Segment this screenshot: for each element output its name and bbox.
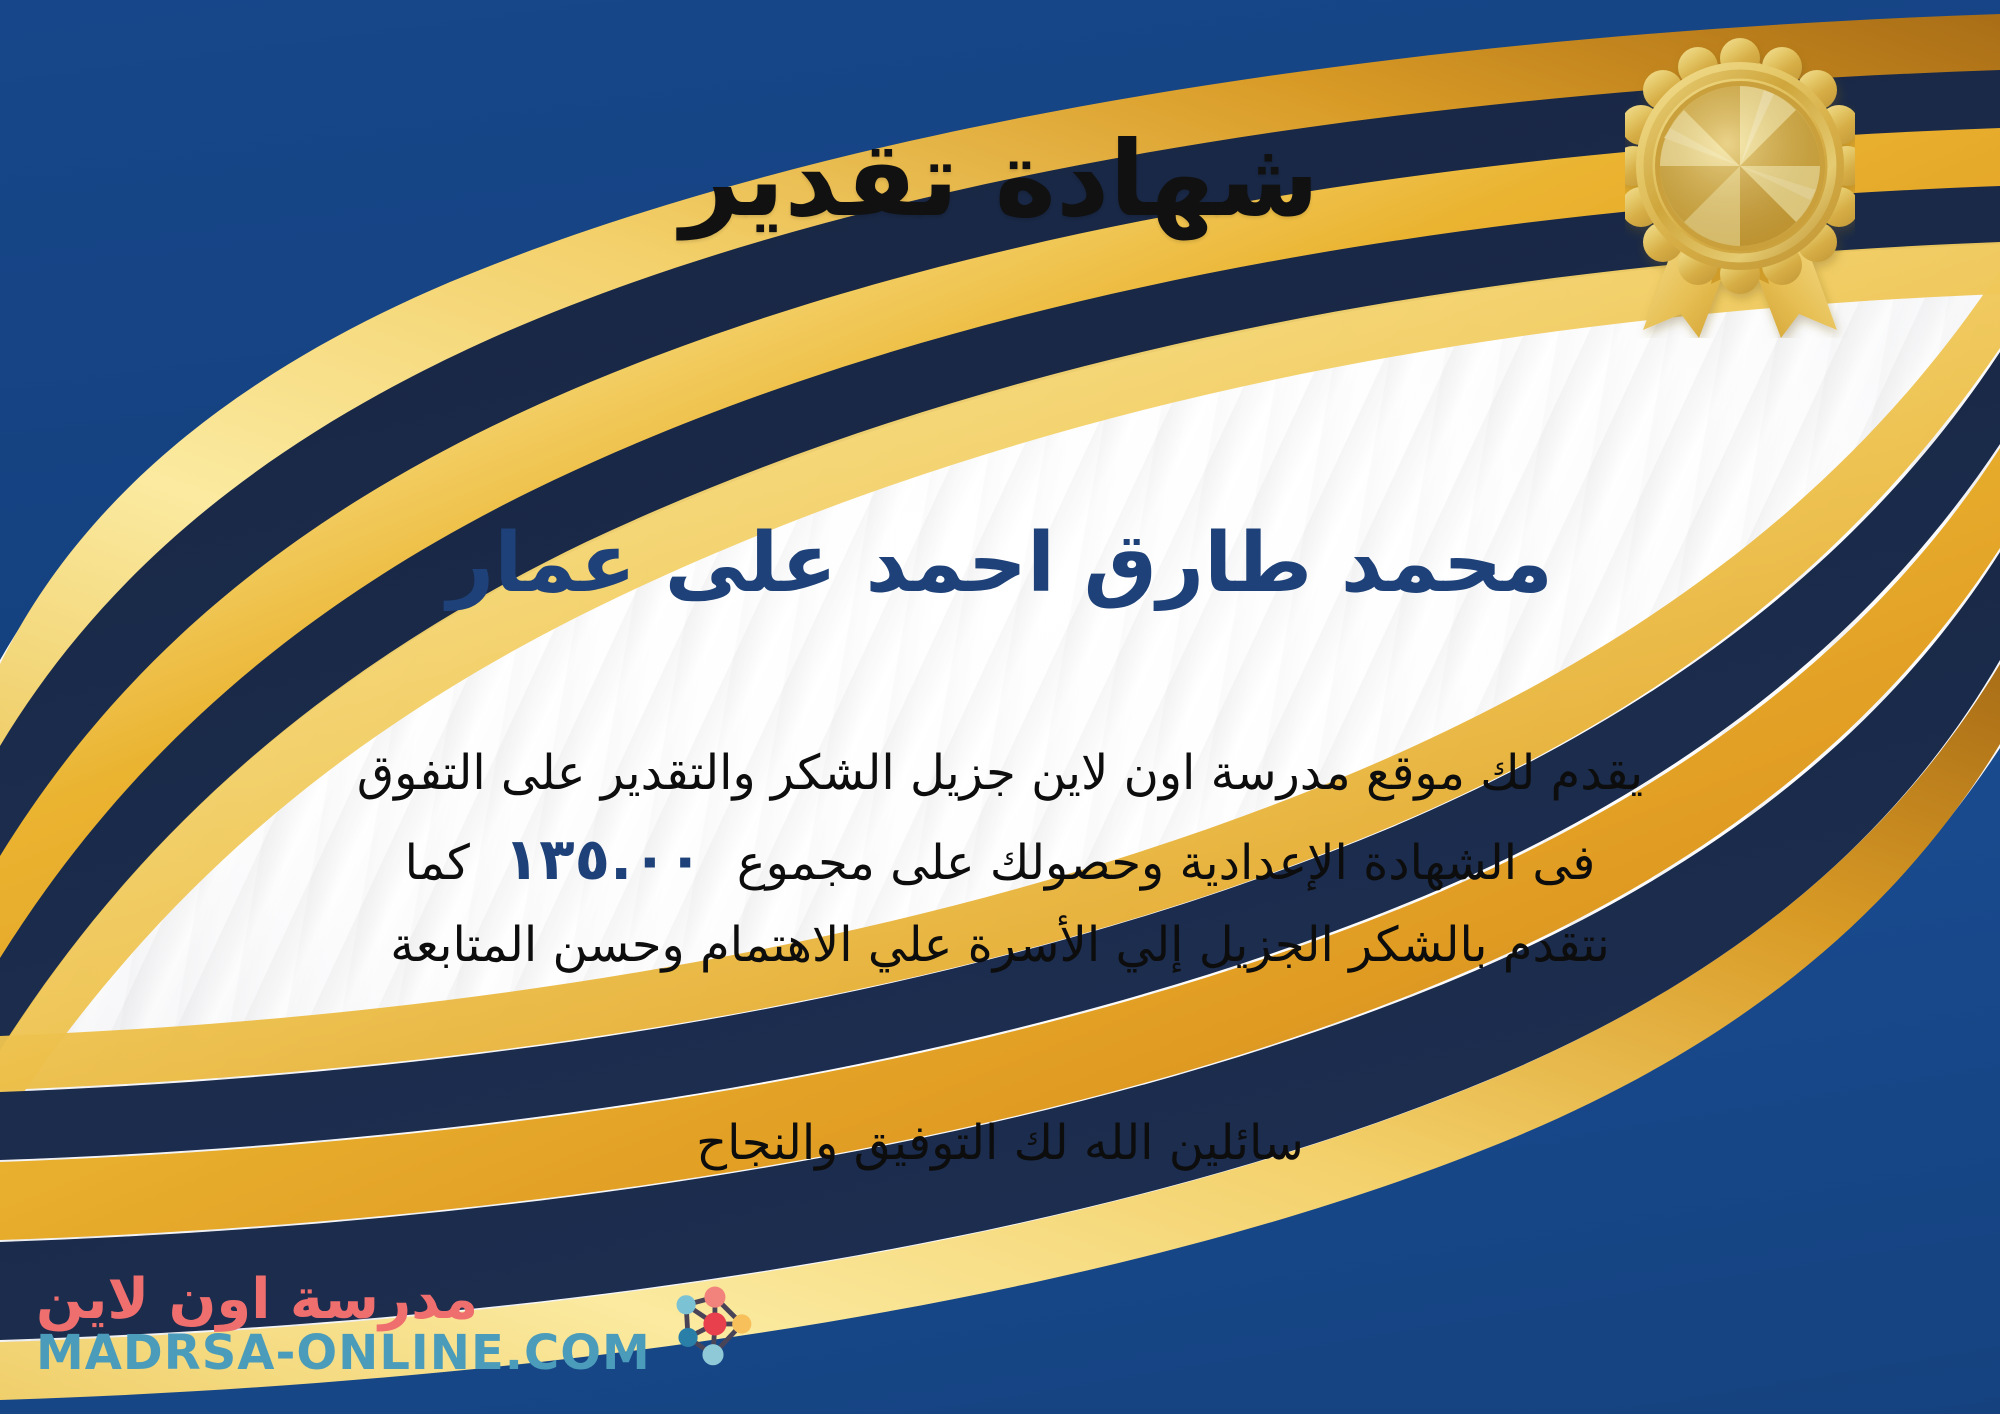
body-line-2-suffix: كما [405,835,470,891]
recipient-name: محمد طارق احمد على عمار [0,516,2000,611]
network-nodes-icon [665,1276,761,1372]
brand-logo[interactable]: مدرسة اون لاين MADRSA-ONLINE.COM [36,1271,761,1379]
body-line-2: فى الشهادة الإعدادية وحصولك على مجموع١٣٥… [70,813,1930,907]
body-paragraph: يقدم لك موقع مدرسة اون لاين جزيل الشكر و… [70,735,1930,984]
body-line-3: نتقدم بالشكر الجزيل إلي الأسرة علي الاهت… [70,907,1930,985]
brand-website[interactable]: MADRSA-ONLINE.COM [36,1328,651,1378]
certificate-canvas: شهادة تقدير محمد طارق احمد على عمار يقدم… [0,0,2000,1414]
certificate-content: شهادة تقدير محمد طارق احمد على عمار يقدم… [0,0,2000,1414]
brand-arabic-name: مدرسة اون لاين [36,1271,478,1328]
grade-total-value: ١٣٥.٠٠ [470,825,737,893]
body-line-2-prefix: فى الشهادة الإعدادية وحصولك على مجموع [737,835,1595,891]
brand-text-block: مدرسة اون لاين MADRSA-ONLINE.COM [36,1271,651,1379]
body-line-1: يقدم لك موقع مدرسة اون لاين جزيل الشكر و… [70,735,1930,813]
closing-wish: سائلين الله لك التوفيق والنجاح [0,1115,2000,1171]
page-title: شهادة تقدير [0,118,2000,240]
